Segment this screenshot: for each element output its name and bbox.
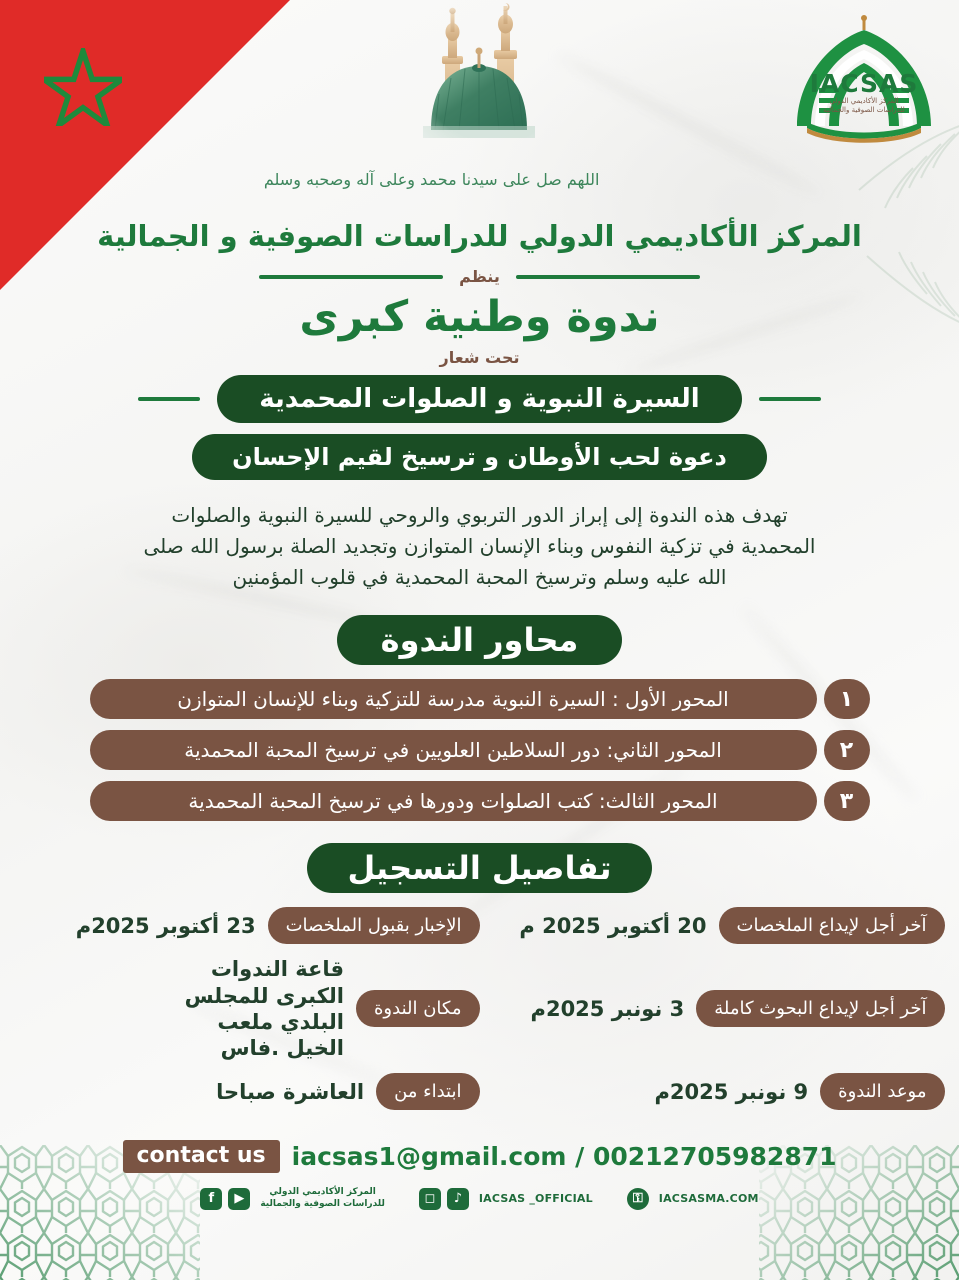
detail-label: ابتداء من — [376, 1073, 479, 1110]
social-group-official: ◻ ♪ IACSAS _OFFICIAL — [419, 1188, 593, 1210]
table-row: موعد الندوة 9 نونبر 2025م ابتداء من العا… — [15, 1073, 945, 1110]
contact-us-badge: contact us — [123, 1140, 280, 1173]
detail-cell: آخر أجل لإيداع البحوث كاملة 3 نونبر 2025… — [480, 990, 945, 1027]
detail-label: الإخبار بقبول الملخصات — [268, 907, 480, 944]
organizes-row: ينظم — [260, 267, 700, 286]
registration-section-title: تفاصيل التسجيل — [307, 843, 651, 893]
seminar-title: ندوة وطنية كبرى — [299, 292, 659, 342]
detail-label: مكان الندوة — [356, 990, 480, 1027]
page-title: المركز الأكاديمي الدولي للدراسات الصوفية… — [97, 220, 862, 253]
detail-label: آخر أجل لإيداع الملخصات — [719, 907, 945, 944]
axis-text: المحور الثالث: كتب الصلوات ودورها في ترس… — [90, 781, 817, 821]
detail-cell: مكان الندوة قاعة الندوات الكبرى للمجلس ا… — [15, 956, 480, 1061]
detail-value: 3 نونبر 2025م — [531, 996, 685, 1022]
list-item: ١ المحور الأول : السيرة النبوية مدرسة لل… — [90, 679, 870, 719]
divider-line-left — [259, 275, 443, 279]
detail-value: 20 أكتوبر 2025 م — [519, 913, 706, 939]
axis-number: ١ — [824, 679, 870, 719]
list-item: ٣ المحور الثالث: كتب الصلوات ودورها في ت… — [90, 781, 870, 821]
under-slogan-label: تحت شعار — [439, 348, 519, 367]
contact-row: contact us iacsas1@gmail.com / 002127059… — [123, 1140, 837, 1173]
axis-text: المحور الأول : السيرة النبوية مدرسة للتز… — [90, 679, 817, 719]
tiktok-icon[interactable]: ♪ — [447, 1188, 469, 1210]
banner-side-line-right — [759, 397, 821, 401]
organizes-label: ينظم — [459, 267, 500, 286]
social-label-line1: المركز الأكاديمي الدولي — [260, 1187, 385, 1198]
banner-primary: السيرة النبوية و الصلوات المحمدية — [217, 375, 741, 423]
divider-line-right — [516, 275, 700, 279]
axis-text: المحور الثاني: دور السلاطين العلويين في … — [90, 730, 817, 770]
detail-value: 9 نونبر 2025م — [654, 1079, 808, 1105]
poster-root: اللهم صل على سيدنا محمد وعلى آله وصحبه و… — [0, 0, 959, 1280]
detail-label: آخر أجل لإيداع البحوث كاملة — [696, 990, 944, 1027]
axis-number: ٣ — [824, 781, 870, 821]
table-row: آخر أجل لإيداع البحوث كاملة 3 نونبر 2025… — [15, 956, 945, 1061]
facebook-icon[interactable]: f — [200, 1188, 222, 1210]
intro-paragraph: تهدف هذه الندوة إلى إبراز الدور التربوي … — [135, 500, 825, 593]
contact-details[interactable]: iacsas1@gmail.com / 00212705982871 — [292, 1142, 837, 1171]
banner-side-line-left — [138, 397, 200, 401]
axes-list: ١ المحور الأول : السيرة النبوية مدرسة لل… — [90, 679, 870, 821]
detail-value: قاعة الندوات الكبرى للمجلس البلدي ملعب ا… — [159, 956, 344, 1061]
primary-banner-row: السيرة النبوية و الصلوات المحمدية — [0, 375, 959, 423]
globe-icon[interactable]: ⚿ — [627, 1188, 649, 1210]
social-label-official: IACSAS _OFFICIAL — [479, 1192, 593, 1205]
detail-cell: موعد الندوة 9 نونبر 2025م — [480, 1073, 945, 1110]
youtube-icon[interactable]: ▶ — [228, 1188, 250, 1210]
detail-label: موعد الندوة — [820, 1073, 944, 1110]
table-row: آخر أجل لإيداع الملخصات 20 أكتوبر 2025 م… — [15, 907, 945, 944]
axis-number: ٢ — [824, 730, 870, 770]
detail-cell: ابتداء من العاشرة صباحا — [15, 1073, 480, 1110]
social-group-website: ⚿ IACSASMA.COM — [627, 1188, 759, 1210]
banner-secondary: دعوة لحب الأوطان و ترسيخ لقيم الإحسان — [192, 434, 767, 480]
social-label-website: IACSASMA.COM — [659, 1192, 759, 1205]
social-label-center: المركز الأكاديمي الدولي للدراسات الصوفية… — [260, 1187, 385, 1210]
social-group-center: f ▶ المركز الأكاديمي الدولي للدراسات الص… — [200, 1187, 385, 1210]
axes-section-title: محاور الندوة — [337, 615, 623, 665]
social-bar: f ▶ المركز الأكاديمي الدولي للدراسات الص… — [0, 1187, 959, 1210]
detail-cell: الإخبار بقبول الملخصات 23 أكتوبر 2025م — [15, 907, 480, 944]
detail-value: 23 أكتوبر 2025م — [76, 913, 256, 939]
instagram-icon[interactable]: ◻ — [419, 1188, 441, 1210]
registration-details-grid: آخر أجل لإيداع الملخصات 20 أكتوبر 2025 م… — [15, 907, 945, 1110]
detail-value: العاشرة صباحا — [216, 1079, 364, 1105]
social-label-line2: للدراسات الصوفية والجمالية — [260, 1199, 385, 1210]
detail-cell: آخر أجل لإيداع الملخصات 20 أكتوبر 2025 م — [480, 907, 945, 944]
list-item: ٢ المحور الثاني: دور السلاطين العلويين ف… — [90, 730, 870, 770]
